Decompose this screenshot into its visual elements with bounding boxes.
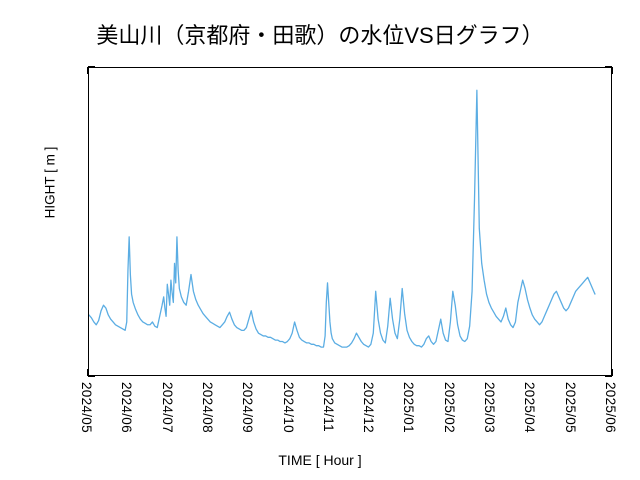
x-tick-label: 2025/06 (604, 382, 618, 433)
x-axis-title: TIME [ Hour ] (0, 452, 640, 468)
x-tick-label: 2025/01 (402, 382, 416, 433)
x-tick-label: 2024/07 (160, 382, 174, 433)
x-tick-label: 2024/10 (281, 382, 295, 433)
x-tick-label: 2025/04 (523, 382, 537, 433)
y-axis-title: HIGHT [ m ] (43, 123, 58, 243)
x-tick-label: 2024/12 (362, 382, 376, 433)
plot-area (88, 67, 612, 376)
x-tick-label: 2024/05 (80, 382, 94, 433)
x-tick-label: 2025/02 (442, 382, 456, 433)
chart-figure: 美山川（京都府・田歌）の水位VS日グラフ） HIGHT [ m ] TIME [… (0, 0, 640, 480)
x-tick-label: 2025/05 (563, 382, 577, 433)
x-tick-label: 2024/08 (200, 382, 214, 433)
x-tick-label: 2024/11 (321, 382, 335, 432)
data-series-svg (89, 68, 611, 375)
x-tick-label: 2024/09 (241, 382, 255, 433)
water-level-line (89, 90, 595, 347)
x-tick-label: 2025/03 (483, 382, 497, 433)
page-title: 美山川（京都府・田歌）の水位VS日グラフ） (0, 18, 640, 50)
x-tick-label: 2024/06 (120, 382, 134, 433)
